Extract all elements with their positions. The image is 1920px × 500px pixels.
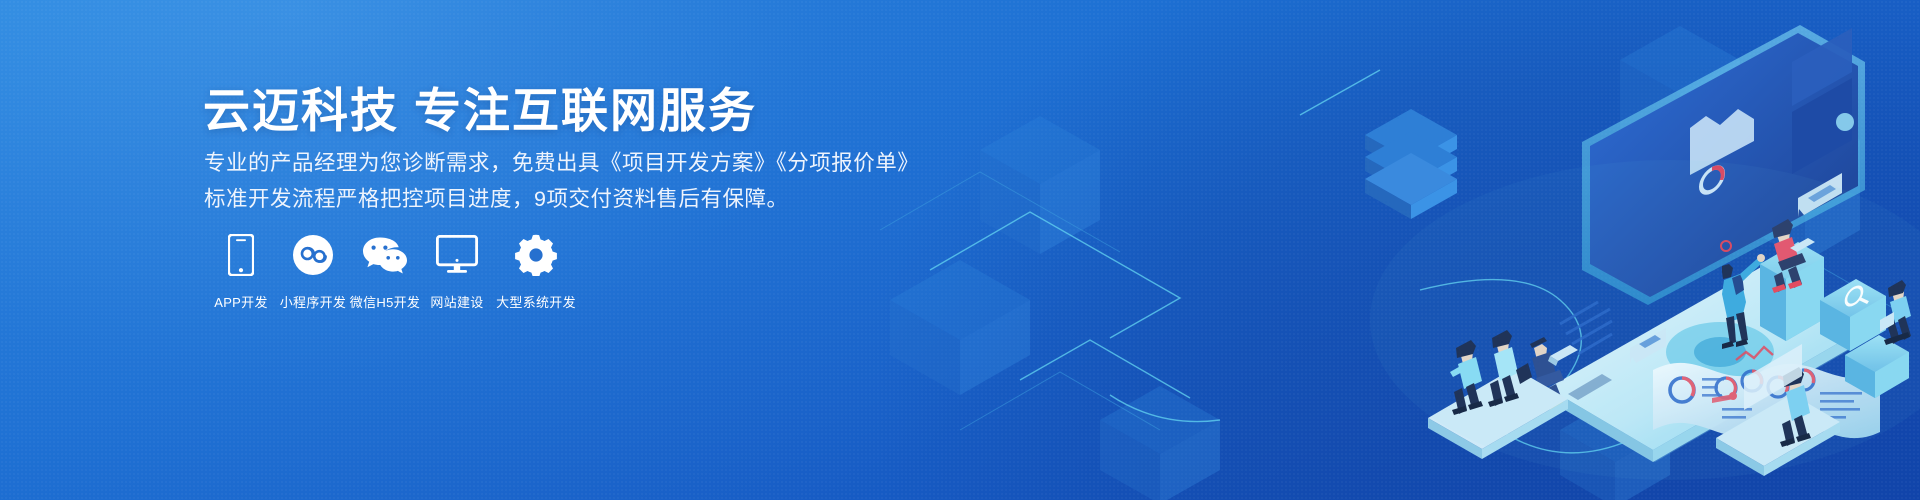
- service-label: 微信H5开发: [350, 292, 420, 311]
- service-item-large-system[interactable]: 大型系统开发: [493, 232, 579, 311]
- service-list: APP开发 小程序开发: [205, 232, 579, 311]
- service-label: 小程序开发: [280, 292, 347, 311]
- monitor-icon: [436, 232, 478, 278]
- service-item-wechat[interactable]: 微信H5开发: [349, 232, 421, 311]
- hero-banner: 云迈科技 专注互联网服务 专业的产品经理为您诊断需求，免费出具《项目开发方案》《…: [0, 0, 1920, 500]
- service-label: APP开发: [214, 292, 268, 311]
- gear-icon: [515, 232, 557, 278]
- service-label: 大型系统开发: [496, 292, 576, 311]
- mobile-phone-icon: [228, 232, 254, 278]
- subtitle-line-2: 标准开发流程严格把控项目进度，9项交付资料售后有保障。: [204, 182, 788, 213]
- page-title: 云迈科技 专注互联网服务: [203, 72, 757, 141]
- wechat-icon: [361, 232, 409, 278]
- service-label: 网站建设: [430, 292, 483, 311]
- banner-content: 云迈科技 专注互联网服务 专业的产品经理为您诊断需求，免费出具《项目开发方案》《…: [203, 0, 963, 500]
- service-item-website[interactable]: 网站建设: [421, 232, 493, 311]
- service-item-miniprogram[interactable]: 小程序开发: [277, 232, 349, 311]
- mini-program-icon: [292, 232, 334, 278]
- service-item-app[interactable]: APP开发: [205, 232, 277, 311]
- hero-illustration: [860, 0, 1920, 500]
- subtitle-line-1: 专业的产品经理为您诊断需求，免费出具《项目开发方案》《分项报价单》: [204, 146, 919, 177]
